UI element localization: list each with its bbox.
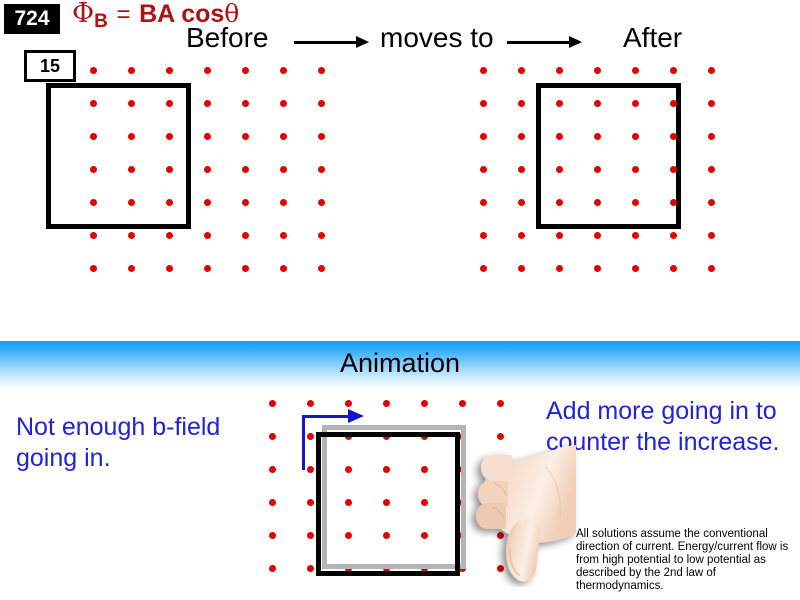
field-dot-into-page-icon (128, 166, 135, 173)
field-dot-into-page-icon (307, 499, 314, 506)
field-dot-into-page-icon (128, 232, 135, 239)
field-dot-into-page-icon (480, 232, 487, 239)
field-dot-into-page-icon (269, 466, 276, 473)
field-dot-into-page-icon (128, 67, 135, 74)
current-direction-arrow-icon (348, 409, 364, 423)
field-dot-into-page-icon (670, 232, 677, 239)
field-dot-into-page-icon (670, 199, 677, 206)
field-dot-into-page-icon (670, 100, 677, 107)
field-dot-into-page-icon (670, 166, 677, 173)
field-dot-into-page-icon (594, 166, 601, 173)
field-dot-into-page-icon (556, 166, 563, 173)
field-dot-into-page-icon (518, 166, 525, 173)
field-dot-into-page-icon (632, 67, 639, 74)
field-dot-into-page-icon (480, 67, 487, 74)
field-dot-into-page-icon (269, 532, 276, 539)
field-dot-into-page-icon (269, 433, 276, 440)
field-dot-into-page-icon (269, 565, 276, 572)
field-dot-into-page-icon (280, 232, 287, 239)
field-dot-into-page-icon (269, 400, 276, 407)
field-dot-into-page-icon (204, 199, 211, 206)
field-dot-into-page-icon (518, 67, 525, 74)
field-dot-into-page-icon (318, 265, 325, 272)
field-dot-into-page-icon (280, 67, 287, 74)
field-dot-into-page-icon (708, 232, 715, 239)
field-dot-into-page-icon (128, 133, 135, 140)
field-dot-into-page-icon (307, 565, 314, 572)
field-dot-into-page-icon (594, 199, 601, 206)
field-dot-into-page-icon (632, 100, 639, 107)
field-dot-into-page-icon (242, 232, 249, 239)
field-dot-into-page-icon (708, 166, 715, 173)
field-dot-into-page-icon (318, 232, 325, 239)
field-dot-into-page-icon (518, 199, 525, 206)
field-dot-into-page-icon (318, 100, 325, 107)
field-dot-into-page-icon (242, 133, 249, 140)
field-dot-into-page-icon (708, 100, 715, 107)
field-dot-into-page-icon (318, 166, 325, 173)
field-dot-into-page-icon (204, 133, 211, 140)
field-dot-into-page-icon (280, 166, 287, 173)
field-dot-into-page-icon (90, 133, 97, 140)
magnetic-field-diagram-top (0, 0, 800, 330)
field-dot-into-page-icon (708, 265, 715, 272)
field-dot-into-page-icon (318, 133, 325, 140)
field-dot-into-page-icon (459, 400, 466, 407)
field-dot-into-page-icon (594, 133, 601, 140)
field-dot-into-page-icon (480, 199, 487, 206)
field-dot-into-page-icon (632, 133, 639, 140)
field-dot-into-page-icon (90, 166, 97, 173)
field-dot-into-page-icon (480, 100, 487, 107)
field-dot-into-page-icon (518, 232, 525, 239)
field-dot-into-page-icon (632, 166, 639, 173)
field-dot-into-page-icon (204, 100, 211, 107)
field-dot-into-page-icon (166, 67, 173, 74)
field-dot-into-page-icon (518, 265, 525, 272)
field-dot-into-page-icon (166, 100, 173, 107)
field-dot-into-page-icon (90, 100, 97, 107)
field-dot-into-page-icon (670, 67, 677, 74)
field-dot-into-page-icon (480, 265, 487, 272)
field-dot-into-page-icon (480, 166, 487, 173)
field-dot-into-page-icon (128, 199, 135, 206)
field-dot-into-page-icon (307, 433, 314, 440)
field-dot-into-page-icon (128, 100, 135, 107)
field-dot-into-page-icon (166, 199, 173, 206)
thumbs-down-hand-icon (450, 437, 580, 587)
field-dot-into-page-icon (307, 532, 314, 539)
field-dot-into-page-icon (632, 232, 639, 239)
current-direction-arrow-icon (302, 415, 305, 470)
field-dot-into-page-icon (518, 100, 525, 107)
footnote-text: All solutions assume the conventional di… (576, 528, 794, 593)
field-dot-into-page-icon (594, 67, 601, 74)
field-dot-into-page-icon (242, 265, 249, 272)
field-dot-into-page-icon (632, 265, 639, 272)
field-dot-into-page-icon (556, 67, 563, 74)
field-dot-into-page-icon (204, 232, 211, 239)
field-dot-into-page-icon (556, 199, 563, 206)
field-dot-into-page-icon (632, 199, 639, 206)
field-dot-into-page-icon (670, 265, 677, 272)
field-dot-into-page-icon (518, 133, 525, 140)
field-dot-into-page-icon (166, 232, 173, 239)
field-dot-into-page-icon (708, 133, 715, 140)
field-dot-into-page-icon (166, 133, 173, 140)
field-dot-into-page-icon (594, 100, 601, 107)
field-dot-into-page-icon (307, 466, 314, 473)
field-dot-into-page-icon (280, 199, 287, 206)
field-dot-into-page-icon (556, 133, 563, 140)
field-dot-into-page-icon (204, 265, 211, 272)
field-dot-into-page-icon (556, 265, 563, 272)
field-dot-into-page-icon (345, 400, 352, 407)
field-dot-into-page-icon (556, 232, 563, 239)
animation-banner: Animation (0, 341, 800, 388)
field-dot-into-page-icon (269, 499, 276, 506)
field-dot-into-page-icon (90, 67, 97, 74)
field-dot-into-page-icon (383, 400, 390, 407)
field-dot-into-page-icon (708, 67, 715, 74)
explanation-text-right: Add more going in to counter the increas… (546, 396, 796, 458)
field-dot-into-page-icon (307, 400, 314, 407)
field-dot-into-page-icon (318, 199, 325, 206)
explanation-text-left: Not enough b-field going in. (16, 412, 256, 474)
field-dot-into-page-icon (204, 166, 211, 173)
field-dot-into-page-icon (670, 133, 677, 140)
field-dot-into-page-icon (242, 199, 249, 206)
field-dot-into-page-icon (204, 67, 211, 74)
field-dot-into-page-icon (128, 265, 135, 272)
field-dot-into-page-icon (166, 166, 173, 173)
animation-banner-title: Animation (0, 348, 800, 379)
current-direction-arrow-icon (302, 415, 350, 418)
field-dot-into-page-icon (166, 265, 173, 272)
field-dot-into-page-icon (280, 265, 287, 272)
field-dot-into-page-icon (90, 232, 97, 239)
field-dot-into-page-icon (421, 400, 428, 407)
field-dot-into-page-icon (318, 67, 325, 74)
field-dot-into-page-icon (594, 265, 601, 272)
field-dot-into-page-icon (556, 100, 563, 107)
field-dot-into-page-icon (242, 67, 249, 74)
field-dot-into-page-icon (242, 166, 249, 173)
field-dot-into-page-icon (90, 199, 97, 206)
field-dot-into-page-icon (280, 133, 287, 140)
field-dot-into-page-icon (90, 265, 97, 272)
field-dot-into-page-icon (480, 133, 487, 140)
wire-loop-animated (316, 432, 460, 576)
field-dot-into-page-icon (497, 400, 504, 407)
field-dot-into-page-icon (594, 232, 601, 239)
field-dot-into-page-icon (242, 100, 249, 107)
animation-stage (255, 395, 545, 595)
field-dot-into-page-icon (280, 100, 287, 107)
field-dot-into-page-icon (708, 199, 715, 206)
